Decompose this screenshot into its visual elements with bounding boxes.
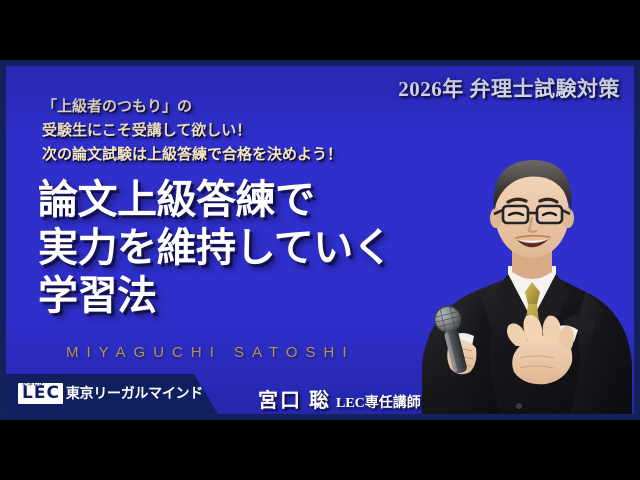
instructor-name: 宮口 聡 — [258, 390, 331, 412]
header-exam: 弁理士試験対策 — [470, 77, 621, 101]
title-line-2: 実力を維持していく — [38, 224, 392, 272]
letterbox-bar-bottom — [0, 420, 640, 480]
video-thumbnail: 2026年 弁理士試験対策 「上級者のつもり」の 受験生にこそ受講して欲しい！ … — [0, 0, 640, 480]
subtitle-line-2: 受験生にこそ受講して欲しい！ — [42, 118, 342, 142]
instructor-credit: 宮口 聡LEC専任講師 — [258, 384, 421, 413]
subtitle-line-1: 「上級者のつもり」の — [42, 94, 342, 118]
header-exam-label: 2026年 弁理士試験対策 — [398, 73, 620, 103]
header-year: 2026年 — [398, 77, 464, 101]
title-line-3: 学習法 — [38, 272, 392, 320]
lec-logo-mark: かぶしき LEC — [18, 383, 63, 404]
presenter-photo — [404, 114, 634, 414]
romaji-name: MIYAGUCHI SATOSHI — [66, 344, 355, 361]
lec-logo: かぶしき LEC 東京リーガルマインド — [18, 383, 203, 404]
subtitle-block: 「上級者のつもり」の 受験生にこそ受講して欲しい！ 次の論文試験は上級答練で合格… — [42, 94, 342, 166]
lec-logo-bar: かぶしき LEC 東京リーガルマインド — [6, 374, 218, 414]
subtitle-line-3: 次の論文試験は上級答練で合格を決めよう！ — [42, 142, 342, 166]
main-title: 論文上級答練で 実力を維持していく 学習法 — [38, 176, 392, 320]
letterbox-bar-top — [0, 0, 640, 60]
blue-background-panel: 2026年 弁理士試験対策 「上級者のつもり」の 受験生にこそ受講して欲しい！ … — [6, 66, 634, 414]
title-line-1: 論文上級答練で — [38, 176, 392, 224]
video-content-area: 2026年 弁理士試験対策 「上級者のつもり」の 受験生にこそ受講して欲しい！ … — [0, 60, 640, 420]
lec-company-name: 東京リーガルマインド — [66, 385, 203, 404]
presenter-head — [490, 160, 574, 258]
lec-logo-furigana: かぶしき — [22, 382, 44, 387]
instructor-role: LEC専任講師 — [336, 396, 421, 411]
